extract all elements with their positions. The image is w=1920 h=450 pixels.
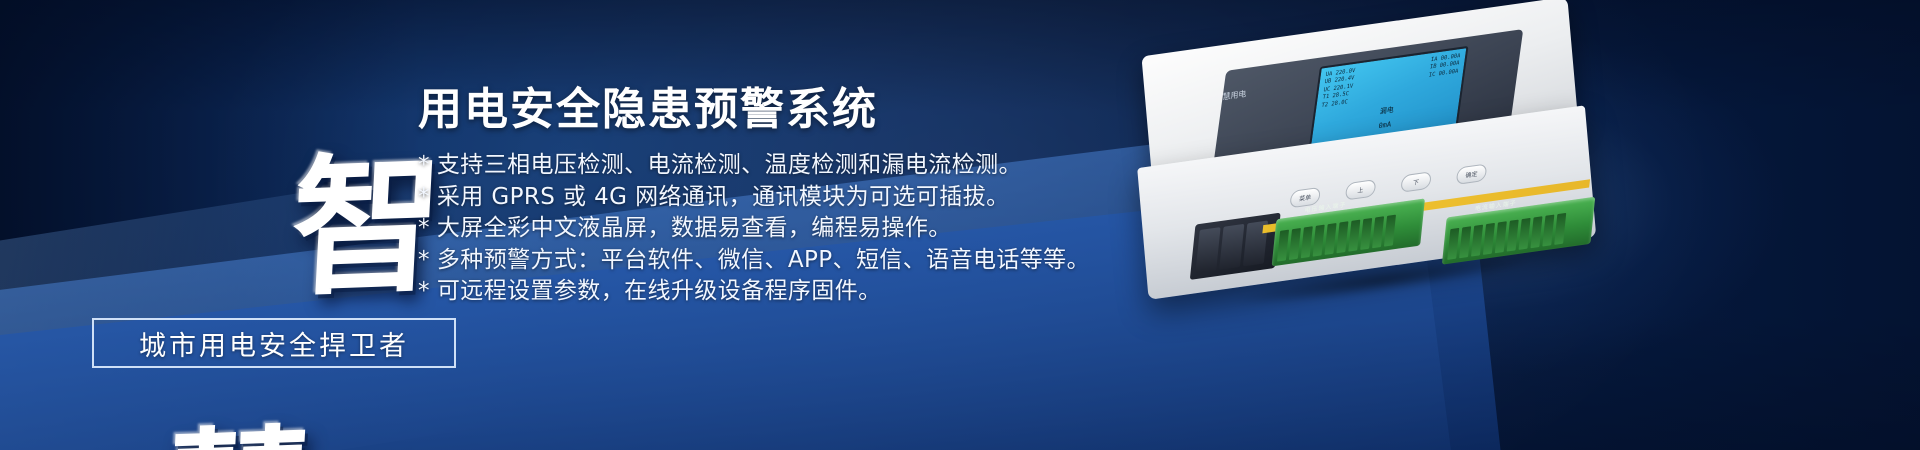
bullet-marker-icon: * — [418, 247, 430, 273]
feature-item: *采用 GPRS 或 4G 网络通讯，通讯模块为可选可插拔。 — [418, 182, 1118, 214]
tagline-text: 城市用电安全捍卫者 — [139, 324, 409, 363]
device-button-down[interactable]: 下 — [1400, 171, 1432, 193]
feature-item-text: 可远程设置参数，在线升级设备程序固件。 — [437, 278, 882, 304]
feature-item: *可远程设置参数，在线升级设备程序固件。 — [418, 276, 1118, 308]
bullet-marker-icon: * — [418, 215, 430, 241]
product-device-image: 智慧用电 UA 220.0V IA 00.00A UB 220.4V IB 00… — [1083, 0, 1627, 384]
feature-item-text: 多种预警方式：平台软件、微信、APP、短信、语音电话等等。 — [437, 247, 1090, 273]
device-button-confirm[interactable]: 确定 — [1456, 163, 1488, 185]
tagline-box: 城市用电安全捍卫者 — [92, 318, 456, 368]
product-banner: 智 慧 城市用电安全捍卫者 用电安全隐患预警系统 *支持三相电压检测、电流检测、… — [0, 0, 1920, 450]
calligraphy-char-hui: 慧 — [159, 426, 409, 450]
lcd-temp-2-extra — [1456, 84, 1457, 92]
bullet-marker-icon: * — [418, 278, 430, 304]
calligraphy-logo: 智 慧 — [54, 18, 430, 320]
feature-item-text: 采用 GPRS 或 4G 网络通讯，通讯模块为可选可插拔。 — [437, 184, 1010, 210]
feature-item-text: 大屏全彩中文液晶屏，数据易查看，编程易操作。 — [437, 215, 952, 241]
copy-column: 用电安全隐患预警系统 *支持三相电压检测、电流检测、温度检测和漏电流检测。 *采… — [418, 82, 1118, 308]
device-voltage-terminal-block: 电压输入端子 — [1272, 198, 1425, 266]
device-power-connector — [1190, 213, 1281, 280]
bullet-marker-icon: * — [418, 152, 430, 178]
feature-item: *大屏全彩中文液晶屏，数据易查看，编程易操作。 — [418, 213, 1118, 245]
device-button-up[interactable]: 上 — [1345, 179, 1377, 201]
bullet-marker-icon: * — [418, 184, 430, 210]
feature-list: *支持三相电压检测、电流检测、温度检测和漏电流检测。 *采用 GPRS 或 4G… — [418, 150, 1118, 308]
device-brand-plate: 智慧用电 — [1213, 81, 1300, 144]
feature-item: *多种预警方式：平台软件、微信、APP、短信、语音电话等等。 — [418, 245, 1118, 277]
feature-item: *支持三相电压检测、电流检测、温度检测和漏电流检测。 — [418, 150, 1118, 182]
feature-item-text: 支持三相电压检测、电流检测、温度检测和漏电流检测。 — [437, 152, 1022, 178]
page-title: 用电安全隐患预警系统 — [418, 82, 1118, 138]
